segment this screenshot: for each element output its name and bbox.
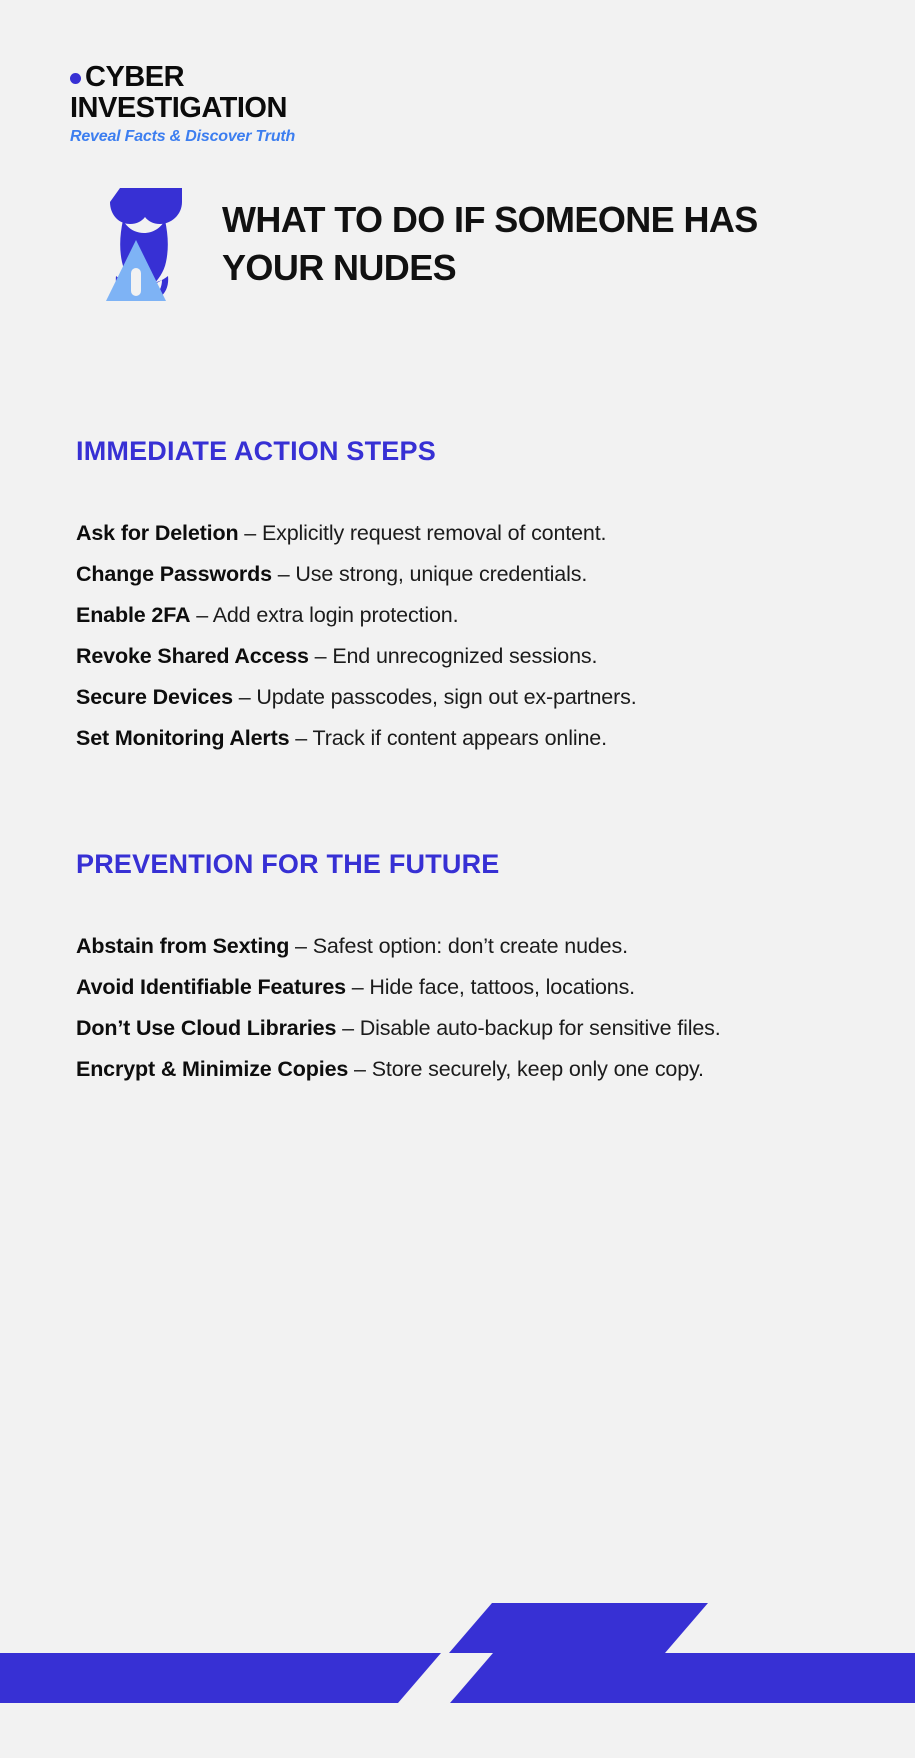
list-item: Enable 2FA – Add extra login protection. <box>76 595 866 636</box>
torso-warning-icon <box>68 180 200 302</box>
list-item: Revoke Shared Access – End unrecognized … <box>76 636 866 677</box>
item-dash: – <box>244 521 256 545</box>
infographic-page: CYBER INVESTIGATION Reveal Facts & Disco… <box>0 0 915 1758</box>
item-term: Abstain from Sexting <box>76 934 289 958</box>
item-dash: – <box>295 934 307 958</box>
page-header: WHAT TO DO IF SOMEONE HAS YOUR NUDES <box>68 180 858 316</box>
page-title: WHAT TO DO IF SOMEONE HAS YOUR NUDES <box>222 196 842 292</box>
item-description: Hide face, tattoos, locations. <box>369 975 635 999</box>
section-heading: IMMEDIATE ACTION STEPS <box>76 435 866 467</box>
footer-parallelogram <box>449 1603 708 1653</box>
item-description: Use strong, unique credentials. <box>295 562 587 586</box>
item-dash: – <box>295 726 307 750</box>
brand-name-line1: CYBER <box>85 62 184 92</box>
section-heading: PREVENTION FOR THE FUTURE <box>76 848 866 880</box>
item-dash: – <box>342 1016 354 1040</box>
item-term: Revoke Shared Access <box>76 644 309 668</box>
item-term: Secure Devices <box>76 685 233 709</box>
item-term: Don’t Use Cloud Libraries <box>76 1016 336 1040</box>
prevention-list: Abstain from Sexting – Safest option: do… <box>76 926 866 1090</box>
item-description: Update passcodes, sign out ex-partners. <box>256 685 636 709</box>
brand-name-line1-row: CYBER <box>70 62 490 92</box>
action-steps-list: Ask for Deletion – Explicitly request re… <box>76 513 866 759</box>
item-description: Track if content appears online. <box>313 726 607 750</box>
brand-name-line2: INVESTIGATION <box>70 93 490 124</box>
list-item: Abstain from Sexting – Safest option: do… <box>76 926 866 967</box>
bullet-dot-icon <box>70 73 81 84</box>
item-description: End unrecognized sessions. <box>332 644 597 668</box>
item-term: Set Monitoring Alerts <box>76 726 289 750</box>
item-description: Add extra login protection. <box>213 603 459 627</box>
item-term: Enable 2FA <box>76 603 190 627</box>
footer-bar-left <box>0 1653 441 1703</box>
list-item: Set Monitoring Alerts – Track if content… <box>76 718 866 759</box>
item-dash: – <box>354 1057 366 1081</box>
item-dash: – <box>278 562 290 586</box>
list-item: Ask for Deletion – Explicitly request re… <box>76 513 866 554</box>
list-item: Encrypt & Minimize Copies – Store secure… <box>76 1049 866 1090</box>
section-prevention-for-the-future: PREVENTION FOR THE FUTURE Abstain from S… <box>76 848 866 1090</box>
item-description: Explicitly request removal of content. <box>262 521 606 545</box>
list-item: Avoid Identifiable Features – Hide face,… <box>76 967 866 1008</box>
item-dash: – <box>196 603 208 627</box>
item-term: Encrypt & Minimize Copies <box>76 1057 348 1081</box>
item-dash: – <box>239 685 251 709</box>
item-description: Store securely, keep only one copy. <box>372 1057 704 1081</box>
item-term: Avoid Identifiable Features <box>76 975 346 999</box>
list-item: Secure Devices – Update passcodes, sign … <box>76 677 866 718</box>
list-item: Change Passwords – Use strong, unique cr… <box>76 554 866 595</box>
item-term: Ask for Deletion <box>76 521 238 545</box>
section-immediate-action-steps: IMMEDIATE ACTION STEPS Ask for Deletion … <box>76 435 866 759</box>
list-item: Don’t Use Cloud Libraries – Disable auto… <box>76 1008 866 1049</box>
footer-decoration <box>0 1578 915 1758</box>
brand-tagline: Reveal Facts & Discover Truth <box>70 127 490 147</box>
item-description: Disable auto-backup for sensitive files. <box>360 1016 721 1040</box>
footer-bar-right <box>450 1653 915 1703</box>
item-dash: – <box>315 644 327 668</box>
item-term: Change Passwords <box>76 562 272 586</box>
brand-logo: CYBER INVESTIGATION Reveal Facts & Disco… <box>70 62 490 147</box>
item-description: Safest option: don’t create nudes. <box>313 934 628 958</box>
item-dash: – <box>352 975 364 999</box>
